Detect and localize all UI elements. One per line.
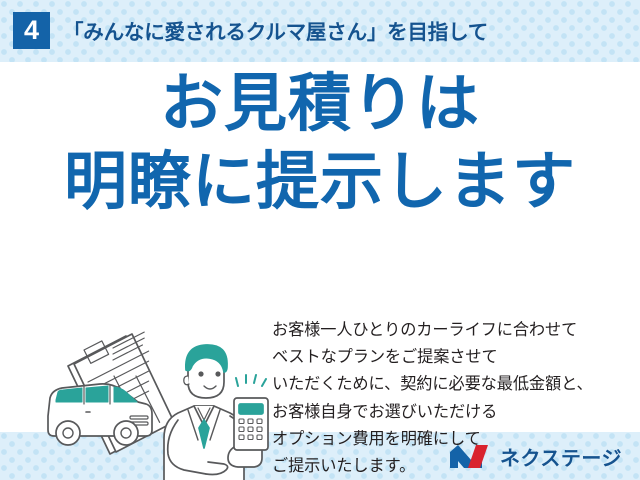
footer-logo-text: ネクステージ <box>500 442 622 471</box>
step-number-badge: 4 <box>13 12 50 49</box>
body-copy-line-2: ベストなプランをご提案させて <box>272 344 632 371</box>
header-title: 「みんなに愛されるクルマ屋さん」を目指して <box>63 15 488 45</box>
body-copy-line-4: お客様自身でお選びいただける <box>272 399 632 426</box>
headline-line-2: 明瞭に提示します <box>0 150 640 216</box>
sparkle-icon <box>236 375 266 386</box>
content-card: お見積りは 明瞭に提示します お客様一人ひとりのカーライフに合わせて ベストなプ… <box>0 62 640 432</box>
header: 4 「みんなに愛されるクルマ屋さん」を目指して <box>0 0 640 60</box>
nextstage-n-logo-icon <box>450 443 492 470</box>
footer-logo: ネクステージ <box>450 440 622 472</box>
slide-root: 4 「みんなに愛されるクルマ屋さん」を目指して お見積りは 明瞭に提示します お… <box>0 0 640 480</box>
illustration-salesman-quote-van <box>38 320 273 480</box>
calculator-icon <box>234 398 268 450</box>
body-copy-line-1: お客様一人ひとりのカーライフに合わせて <box>272 317 632 344</box>
headline: お見積りは 明瞭に提示します <box>0 72 640 215</box>
body-copy-line-3: いただくために、契約に必要な最低金額と、 <box>272 371 632 398</box>
headline-line-1: お見積りは <box>0 72 640 138</box>
